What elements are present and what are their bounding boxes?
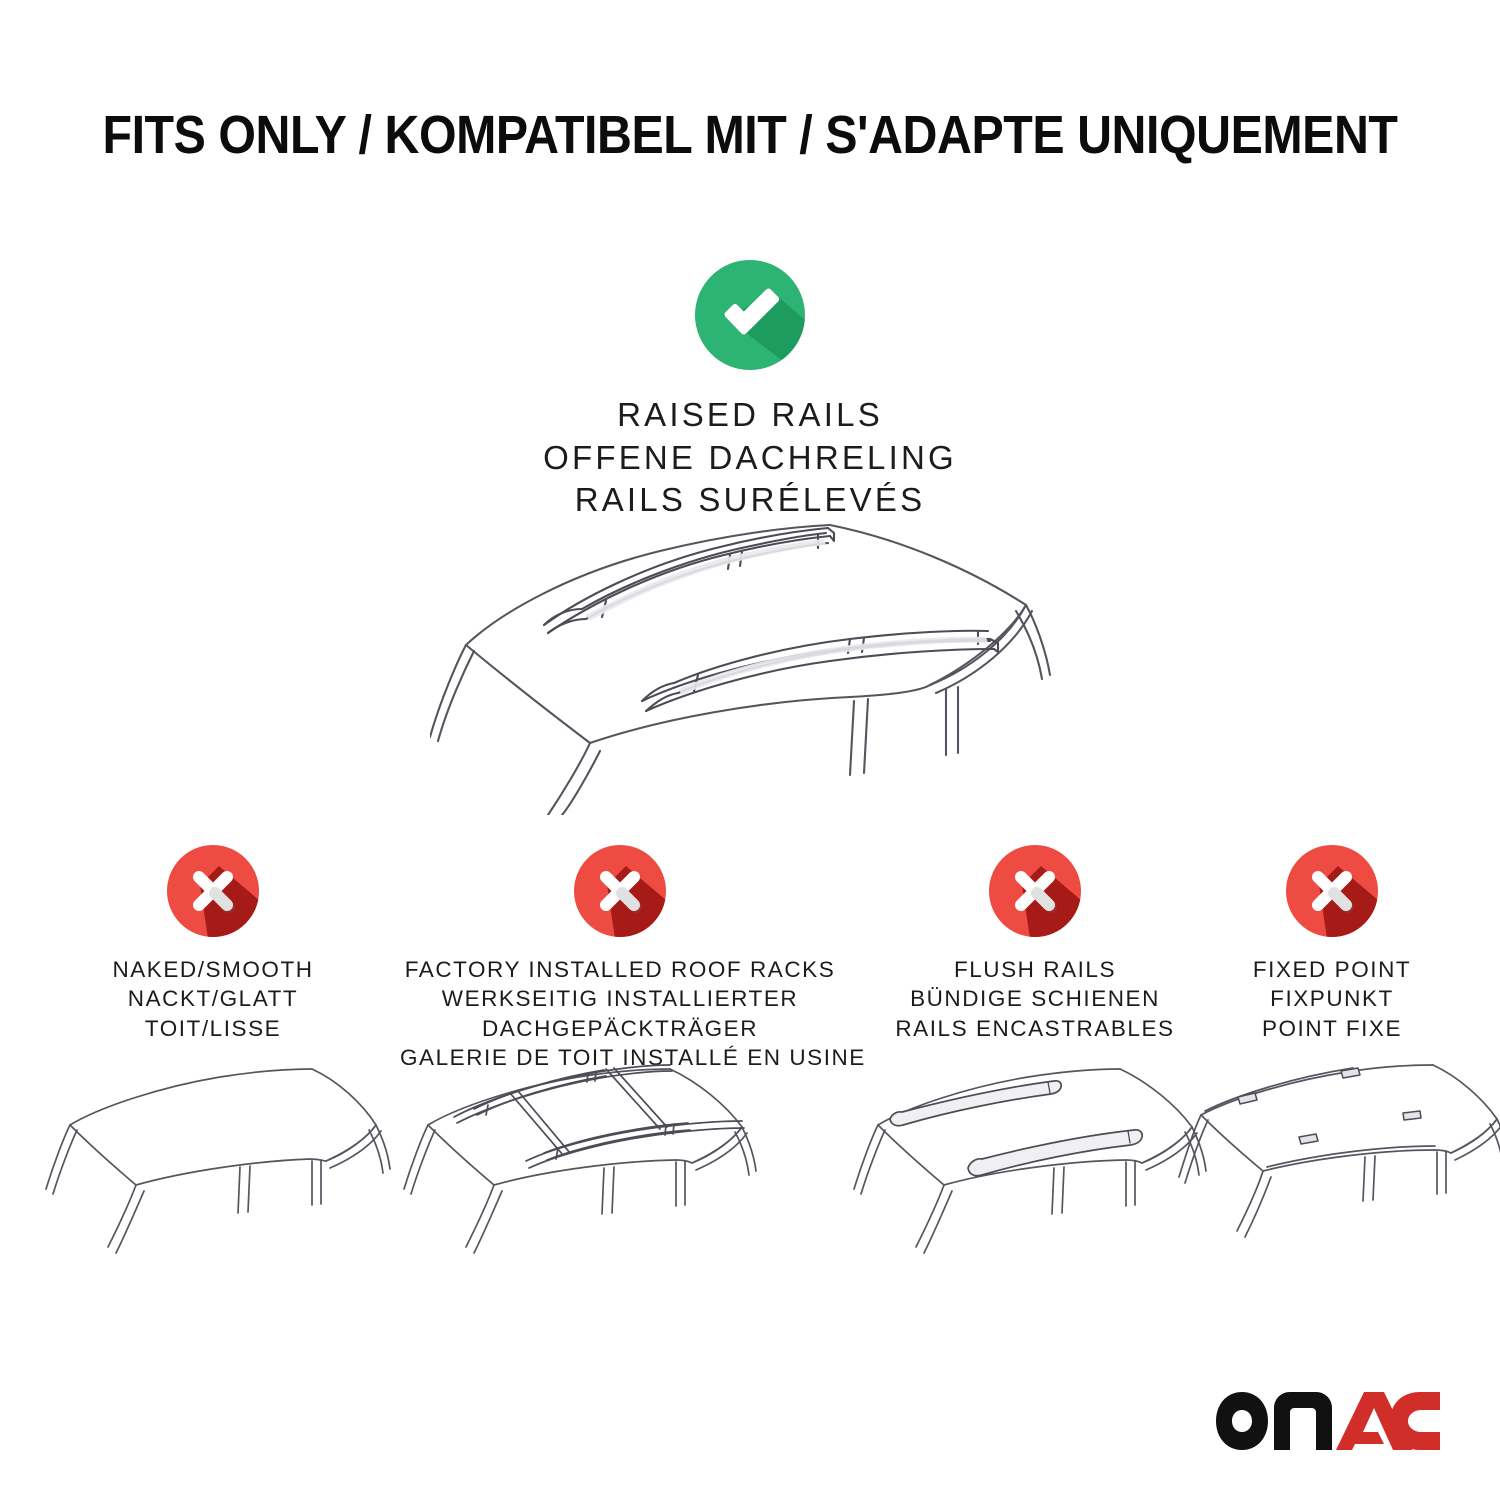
incompatible-labels: NAKED/SMOOTH NACKT/GLATT TOIT/LISSE: [48, 955, 378, 1043]
incompatible-label-en: FACTORY INSTALLED ROOF RACKS: [400, 955, 840, 984]
incompatible-label-fr: RAILS ENCASTRABLES: [855, 1014, 1215, 1043]
compatible-section: RAISED RAILS OFFENE DACHRELING RAILS SUR…: [0, 260, 1500, 522]
incompatible-label-de: NACKT/GLATT: [48, 984, 378, 1013]
logo-letter-o: [1216, 1392, 1268, 1450]
incompatible-labels: FLUSH RAILS BÜNDIGE SCHIENEN RAILS ENCAS…: [855, 955, 1215, 1043]
incompatible-label-en: FLUSH RAILS: [855, 955, 1215, 984]
incompatible-label-de: FIXPUNKT: [1192, 984, 1472, 1013]
compatible-label-de: OFFENE DACHRELING: [0, 437, 1500, 480]
factory-installed-racks-illustration: [398, 1055, 778, 1285]
cross-circle-icon: [989, 845, 1081, 937]
incompatible-label-de-1: WERKSEITIG INSTALLIERTER: [400, 984, 840, 1013]
flush-rails-illustration: [848, 1055, 1228, 1285]
incompatible-column-factory-racks: FACTORY INSTALLED ROOF RACKS WERKSEITIG …: [400, 845, 840, 1073]
incompatible-column-fixed-point: FIXED POINT FIXPUNKT POINT FIXE: [1192, 845, 1472, 1043]
incompatible-column-naked-smooth: NAKED/SMOOTH NACKT/GLATT TOIT/LISSE: [48, 845, 378, 1043]
incompatible-label-de: BÜNDIGE SCHIENEN: [855, 984, 1215, 1013]
incompatible-label-fr: TOIT/LISSE: [48, 1014, 378, 1043]
cross-circle-icon: [167, 845, 259, 937]
incompatible-label-fr: POINT FIXE: [1192, 1014, 1472, 1043]
raised-rails-illustration: [430, 505, 1070, 815]
fixed-point-illustration: [1175, 1055, 1500, 1285]
incompatible-label-de-2: DACHGEPÄCKTRÄGER: [400, 1014, 840, 1043]
incompatible-labels: FIXED POINT FIXPUNKT POINT FIXE: [1192, 955, 1472, 1043]
compatible-label-en: RAISED RAILS: [0, 394, 1500, 437]
omac-logo: [1212, 1388, 1444, 1454]
check-circle-icon: [695, 260, 805, 370]
page-title: FITS ONLY / KOMPATIBEL MIT / S'ADAPTE UN…: [79, 104, 1422, 166]
naked-smooth-illustration: [40, 1055, 400, 1285]
incompatible-column-flush-rails: FLUSH RAILS BÜNDIGE SCHIENEN RAILS ENCAS…: [855, 845, 1215, 1043]
logo-letter-m: [1274, 1392, 1332, 1450]
incompatible-label-en: FIXED POINT: [1192, 955, 1472, 984]
cross-circle-icon: [574, 845, 666, 937]
cross-circle-icon: [1286, 845, 1378, 937]
compatible-labels: RAISED RAILS OFFENE DACHRELING RAILS SUR…: [0, 394, 1500, 522]
incompatible-label-en: NAKED/SMOOTH: [48, 955, 378, 984]
